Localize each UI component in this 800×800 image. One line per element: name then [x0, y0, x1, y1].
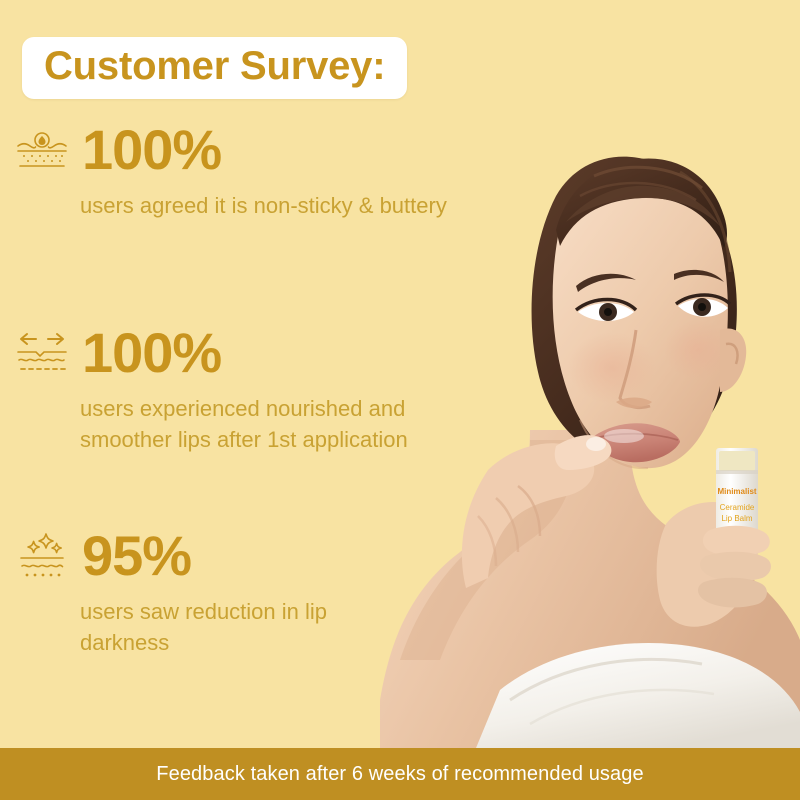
- product-name-line1: Ceramide: [720, 503, 755, 512]
- page-title: Customer Survey:: [44, 46, 385, 86]
- stat-header: 100%: [0, 122, 447, 178]
- model-photo: Minimalist Ceramide Lip Balm: [380, 0, 800, 748]
- stat-description-line: users saw reduction in lip: [80, 596, 327, 627]
- stat-block-non-sticky: 100% users agreed it is non-sticky & but…: [0, 122, 447, 221]
- stat-description-line: users experienced nourished and: [80, 393, 408, 424]
- stat-value: 100%: [82, 325, 221, 381]
- footer-disclaimer: Feedback taken after 6 weeks of recommen…: [156, 763, 643, 786]
- smoothing-arrows-icon: [14, 328, 70, 378]
- stat-value: 95%: [82, 528, 191, 584]
- stat-description-line: users agreed it is non-sticky & buttery: [80, 190, 447, 221]
- stat-description: users saw reduction in lip darkness: [0, 596, 327, 658]
- stat-description: users agreed it is non-sticky & buttery: [0, 190, 447, 221]
- brightening-sparkle-icon: [14, 531, 70, 581]
- stat-block-lip-darkness: 95% users saw reduction in lip darkness: [0, 528, 327, 658]
- product-name-line2: Lip Balm: [721, 514, 752, 523]
- stat-description: users experienced nourished and smoother…: [0, 393, 408, 455]
- footer-bar: Feedback taken after 6 weeks of recommen…: [0, 748, 800, 800]
- stat-block-nourished: 100% users experienced nourished and smo…: [0, 325, 408, 455]
- stat-description-line: darkness: [80, 627, 327, 658]
- stat-header: 95%: [0, 528, 327, 584]
- skin-absorption-icon: [14, 125, 70, 175]
- product-brand-label: Minimalist: [717, 487, 756, 496]
- stat-header: 100%: [0, 325, 408, 381]
- stat-description-line: smoother lips after 1st application: [80, 424, 408, 455]
- page-title-badge: Customer Survey:: [22, 37, 407, 99]
- stat-value: 100%: [82, 122, 221, 178]
- customer-survey-poster: Minimalist Ceramide Lip Balm Customer Su…: [0, 0, 800, 800]
